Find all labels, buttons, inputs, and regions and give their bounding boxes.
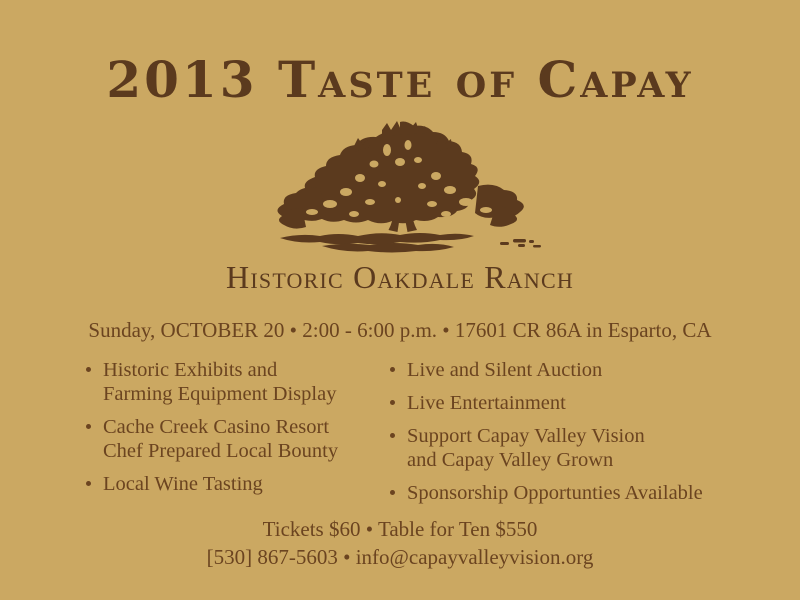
feature-line-2: and Capay Valley Grown [407,448,760,472]
feature-line-1: Live and Silent Auction [407,359,602,381]
footer: Tickets $60 • Table for Ten $550 [530] 8… [0,515,800,571]
feature-line-1: Live Entertainment [407,392,566,414]
feature-line-1: Cache Creek Casino Resort [103,416,329,438]
feature-line-2: Chef Prepared Local Bounty [103,439,360,463]
contact-line: [530] 867-5603 • info@capayvalleyvision.… [0,543,800,571]
list-item: Historic Exhibits and Farming Equipment … [84,358,360,406]
list-item: Local Wine Tasting [84,472,360,496]
feature-list-right: Live and Silent Auction Live Entertainme… [388,358,760,505]
list-item: Live Entertainment [388,391,760,415]
features-left-column: Historic Exhibits and Farming Equipment … [0,358,360,508]
feature-line-1: Historic Exhibits and [103,359,277,381]
pricing-line: Tickets $60 • Table for Ten $550 [0,515,800,543]
list-item: Sponsorship Opportunties Available [388,481,760,505]
oak-tree-logo [0,116,800,258]
list-item: Cache Creek Casino Resort Chef Prepared … [84,415,360,463]
list-item: Support Capay Valley Vision and Capay Va… [388,424,760,472]
feature-line-1: Sponsorship Opportunties Available [407,482,703,504]
page-title: 2013 Taste of Capay [0,52,800,108]
feature-line-2: Farming Equipment Display [103,382,360,406]
oak-tree-icon [250,116,550,258]
feature-line-1: Local Wine Tasting [103,473,263,495]
date-time-location: Sunday, OCTOBER 20 • 2:00 - 6:00 p.m. • … [0,317,800,344]
features-right-column: Live and Silent Auction Live Entertainme… [360,358,760,508]
feature-line-1: Support Capay Valley Vision [407,425,645,447]
poster-canvas: 2013 Taste of Capay [0,0,800,600]
venue-name: Historic Oakdale Ranch [0,258,800,296]
feature-list-left: Historic Exhibits and Farming Equipment … [84,358,360,496]
features-columns: Historic Exhibits and Farming Equipment … [0,358,800,508]
list-item: Live and Silent Auction [388,358,760,382]
